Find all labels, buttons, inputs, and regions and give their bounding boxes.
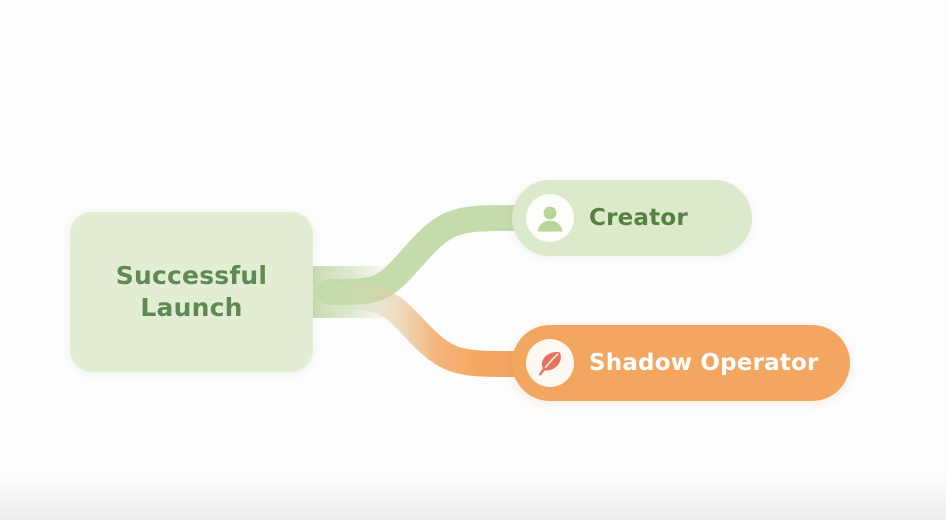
feather-quill-icon (526, 339, 574, 387)
person-avatar-icon (526, 194, 574, 242)
creator-node-label: Creator (589, 205, 688, 231)
node-shadow-operator[interactable]: Shadow Operator (512, 325, 850, 401)
shadow-operator-node-label: Shadow Operator (589, 350, 819, 376)
node-successful-launch[interactable]: Successful Launch (70, 212, 313, 372)
root-node-label: Successful Launch (116, 260, 267, 325)
node-creator[interactable]: Creator (512, 180, 752, 256)
diagram-canvas: Successful Launch Creator Shadow Operato… (0, 0, 946, 520)
